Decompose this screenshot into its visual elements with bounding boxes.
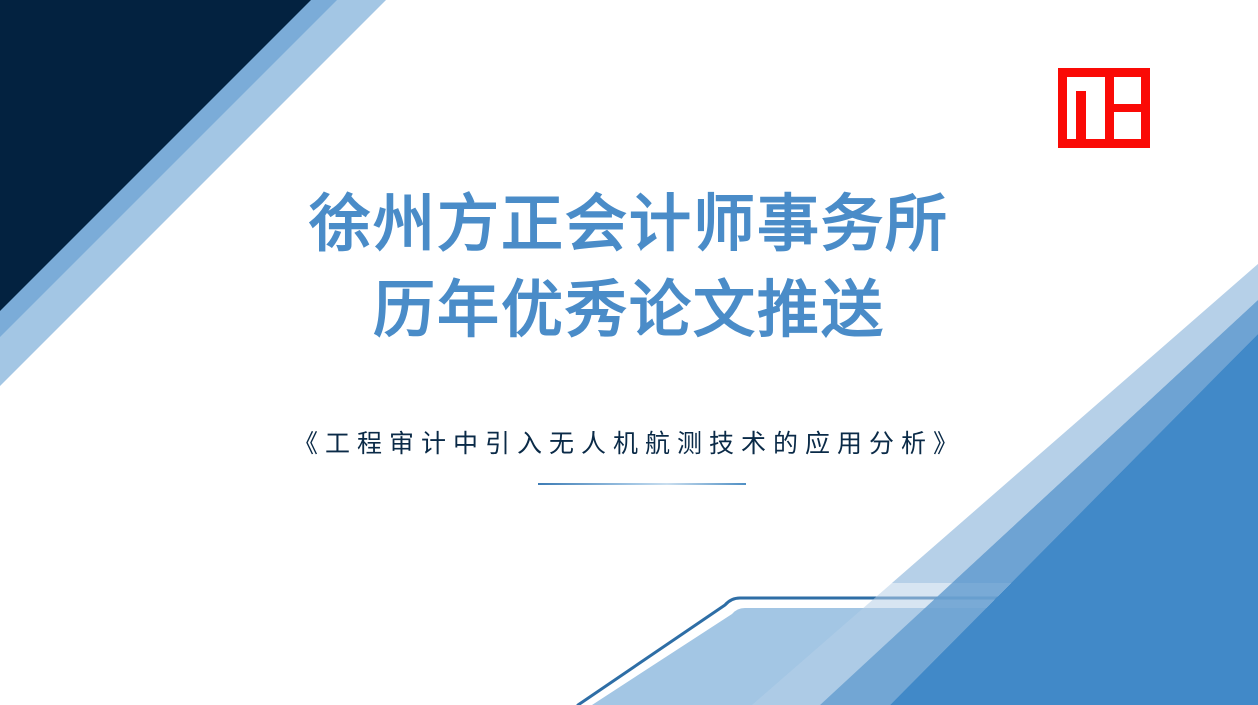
subtitle-divider-rule bbox=[538, 483, 746, 485]
title-line-primary: 徐州方正会计师事务所 bbox=[0, 186, 1258, 264]
logo-right-upper-field bbox=[1114, 77, 1141, 104]
panel-overlap-mid bbox=[820, 300, 1258, 705]
panel-overlap-accent bbox=[890, 334, 1258, 705]
logo-left-bar bbox=[1076, 91, 1086, 139]
panel-outline bbox=[578, 577, 1258, 705]
logo-right-lower-field bbox=[1114, 112, 1141, 139]
paper-title-subtitle: 《工程审计中引入无人机航测技术的应用分析》 bbox=[0, 424, 1258, 460]
panel-white-gap bbox=[559, 560, 1258, 705]
accent-blue-wedge bbox=[890, 334, 1258, 705]
light-blue-panel bbox=[592, 587, 1258, 705]
mid-blue-wedge bbox=[820, 300, 1258, 705]
slide-canvas: 徐州方正会计师事务所 历年优秀论文推送 《工程审计中引入无人机航测技术的应用分析… bbox=[0, 0, 1258, 705]
title-block: 徐州方正会计师事务所 历年优秀论文推送 bbox=[0, 186, 1258, 350]
fangzheng-logo-icon bbox=[1058, 68, 1150, 148]
title-line-secondary: 历年优秀论文推送 bbox=[0, 272, 1258, 350]
